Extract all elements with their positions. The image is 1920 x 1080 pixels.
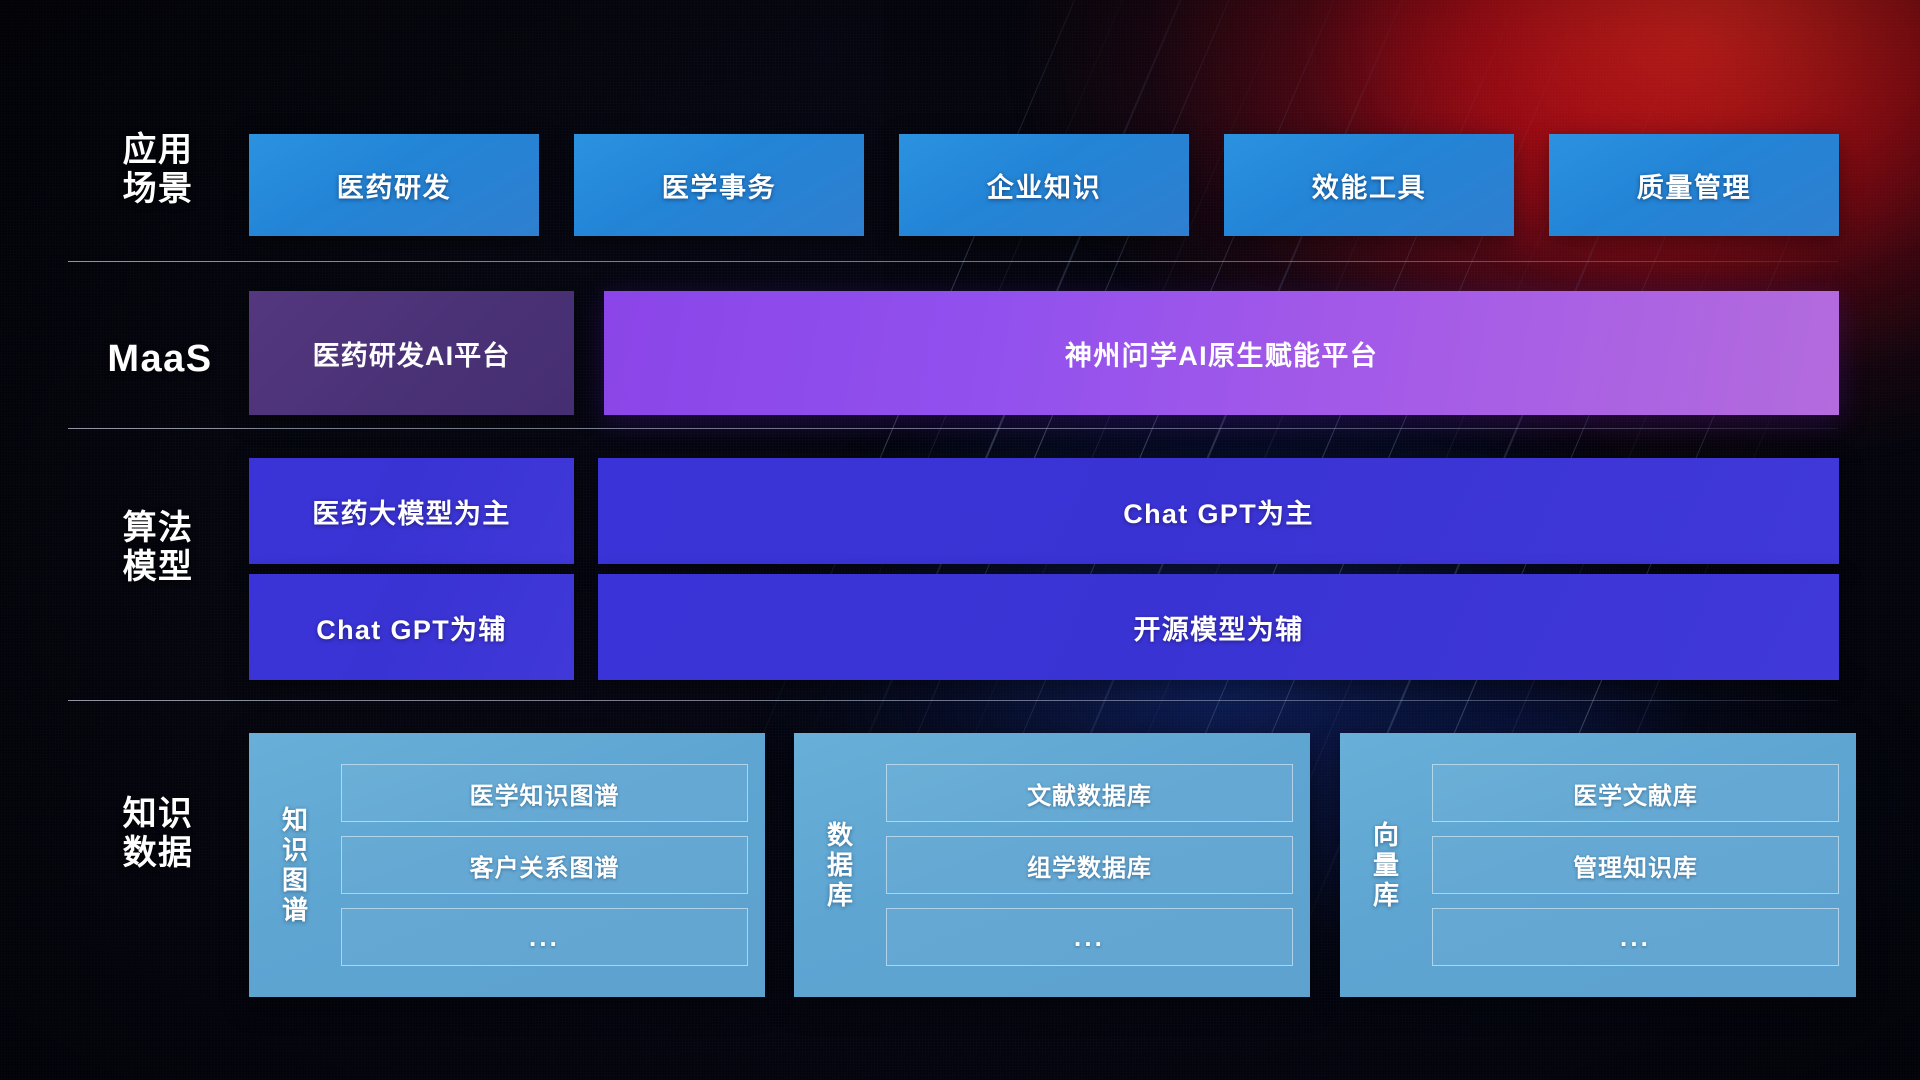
knowledge-item-more[interactable]: ...	[886, 908, 1293, 966]
knowledge-card-vector-store[interactable]: 向 量 库 医学文献库 管理知识库 ...	[1340, 733, 1856, 997]
algo-box-opensource-aux[interactable]: 开源模型为辅	[598, 574, 1839, 680]
knowledge-card-knowledge-graph[interactable]: 知 识 图 谱 医学知识图谱 客户关系图谱 ...	[249, 733, 765, 997]
row-label-algorithm-model: 算法 模型	[78, 509, 238, 588]
knowledge-card-side-label: 向 量 库	[1340, 746, 1432, 984]
knowledge-item[interactable]: 医学知识图谱	[341, 764, 748, 822]
scene-box-label: 质量管理	[1637, 166, 1751, 205]
maas-box-platform[interactable]: 医药研发AI平台	[249, 291, 574, 415]
knowledge-item[interactable]: 文献数据库	[886, 764, 1293, 822]
row-label-maas: MaaS	[60, 337, 260, 381]
knowledge-card-database[interactable]: 数 据 库 文献数据库 组学数据库 ...	[794, 733, 1310, 997]
divider-3	[68, 700, 1838, 701]
knowledge-card-items: 医学知识图谱 客户关系图谱 ...	[341, 746, 748, 984]
maas-box-enablement[interactable]: 神州问学AI原生赋能平台	[604, 291, 1839, 415]
knowledge-item-more[interactable]: ...	[341, 908, 748, 966]
knowledge-card-side-label: 数 据 库	[794, 746, 886, 984]
scene-box-5[interactable]: 质量管理	[1549, 134, 1839, 236]
algo-box-chatgpt-aux[interactable]: Chat GPT为辅	[249, 574, 574, 680]
knowledge-item[interactable]: 管理知识库	[1432, 836, 1839, 894]
algo-box-label: Chat GPT为主	[1123, 492, 1314, 531]
maas-box-label: 神州问学AI原生赋能平台	[1065, 334, 1378, 373]
scene-box-label: 企业知识	[987, 166, 1101, 205]
knowledge-card-side-label: 知 识 图 谱	[249, 746, 341, 984]
architecture-diagram: 应用 场景 医药研发 医学事务 企业知识 效能工具 质量管理 MaaS 医药研发…	[0, 0, 1920, 1080]
row-label-knowledge-data: 知识 数据	[78, 795, 238, 874]
algo-box-chatgpt-main[interactable]: Chat GPT为主	[598, 458, 1839, 564]
scene-box-2[interactable]: 医学事务	[574, 134, 864, 236]
scene-box-label: 效能工具	[1312, 166, 1426, 205]
scene-box-label: 医药研发	[337, 166, 451, 205]
algo-box-label: Chat GPT为辅	[316, 608, 507, 647]
algo-box-label: 医药大模型为主	[312, 492, 510, 531]
divider-2	[68, 428, 1838, 429]
knowledge-item[interactable]: 组学数据库	[886, 836, 1293, 894]
knowledge-item[interactable]: 医学文献库	[1432, 764, 1839, 822]
scene-box-3[interactable]: 企业知识	[899, 134, 1189, 236]
knowledge-item-more[interactable]: ...	[1432, 908, 1839, 966]
scene-box-4[interactable]: 效能工具	[1224, 134, 1514, 236]
algo-box-pharma-main[interactable]: 医药大模型为主	[249, 458, 574, 564]
maas-box-label: 医药研发AI平台	[313, 334, 511, 373]
knowledge-card-items: 医学文献库 管理知识库 ...	[1432, 746, 1839, 984]
knowledge-item[interactable]: 客户关系图谱	[341, 836, 748, 894]
algo-box-label: 开源模型为辅	[1133, 608, 1303, 647]
divider-1	[68, 261, 1838, 262]
row-label-application-scenarios: 应用 场景	[78, 131, 238, 210]
scene-box-1[interactable]: 医药研发	[249, 134, 539, 236]
knowledge-card-items: 文献数据库 组学数据库 ...	[886, 746, 1293, 984]
scene-box-label: 医学事务	[662, 166, 776, 205]
